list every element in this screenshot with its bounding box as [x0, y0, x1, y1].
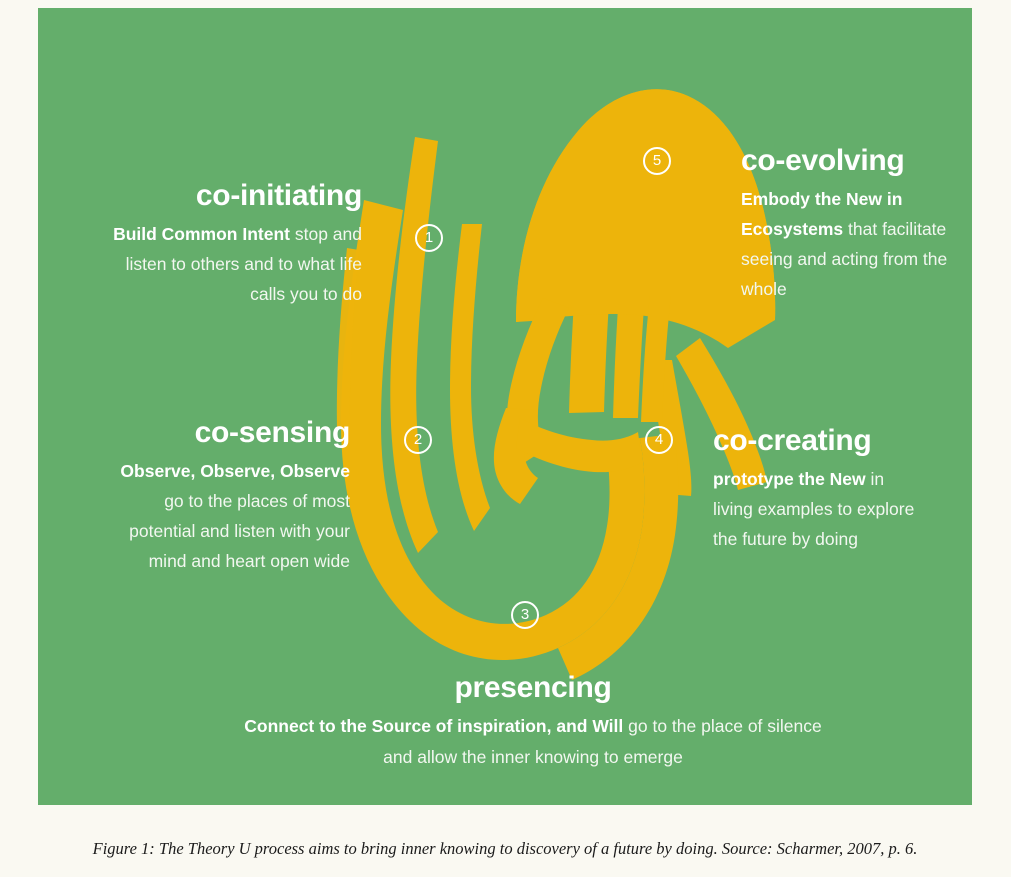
stage-body-co-evolving: Embody the New in Ecosystems that facili… — [741, 184, 951, 304]
step-marker-4: 4 — [645, 426, 673, 454]
stage-title-co-evolving: co-evolving — [741, 144, 951, 179]
figure-container: 1 2 3 4 5 co-initiating Build Common Int… — [0, 0, 1011, 877]
stage-block-co-initiating: co-initiating Build Common Intent stop a… — [98, 179, 362, 309]
step-marker-1: 1 — [415, 224, 443, 252]
stage-block-co-sensing: co-sensing Observe, Observe, Observe go … — [98, 416, 350, 576]
step-marker-3: 3 — [511, 601, 539, 629]
stage-body-co-initiating: Build Common Intent stop and listen to o… — [98, 219, 362, 309]
step-marker-2: 2 — [404, 426, 432, 454]
stage-title-presencing: presencing — [243, 671, 823, 706]
step-marker-5: 5 — [643, 147, 671, 175]
stage-body-co-creating: prototype the New in living examples to … — [713, 464, 923, 554]
stage-block-presencing: presencing Connect to the Source of insp… — [243, 671, 823, 773]
stage-lead-co-sensing: Observe, Observe, Observe — [120, 461, 350, 481]
stage-block-co-creating: co-creating prototype the New in living … — [713, 424, 923, 554]
figure-caption: Figure 1: The Theory U process aims to b… — [38, 838, 972, 859]
stage-lead-co-initiating: Build Common Intent — [113, 224, 290, 244]
stage-title-co-creating: co-creating — [713, 424, 923, 459]
stage-block-co-evolving: co-evolving Embody the New in Ecosystems… — [741, 144, 951, 304]
figure-green-panel: 1 2 3 4 5 co-initiating Build Common Int… — [38, 8, 972, 805]
stage-rest-co-sensing: go to the places of most potential and l… — [129, 491, 350, 571]
stage-lead-co-creating: prototype the New — [713, 469, 866, 489]
stage-body-co-sensing: Observe, Observe, Observe go to the plac… — [98, 456, 350, 576]
stage-lead-presencing: Connect to the Source of inspiration, an… — [244, 716, 623, 736]
stage-title-co-initiating: co-initiating — [98, 179, 362, 214]
stage-body-presencing: Connect to the Source of inspiration, an… — [243, 711, 823, 773]
stage-title-co-sensing: co-sensing — [98, 416, 350, 451]
